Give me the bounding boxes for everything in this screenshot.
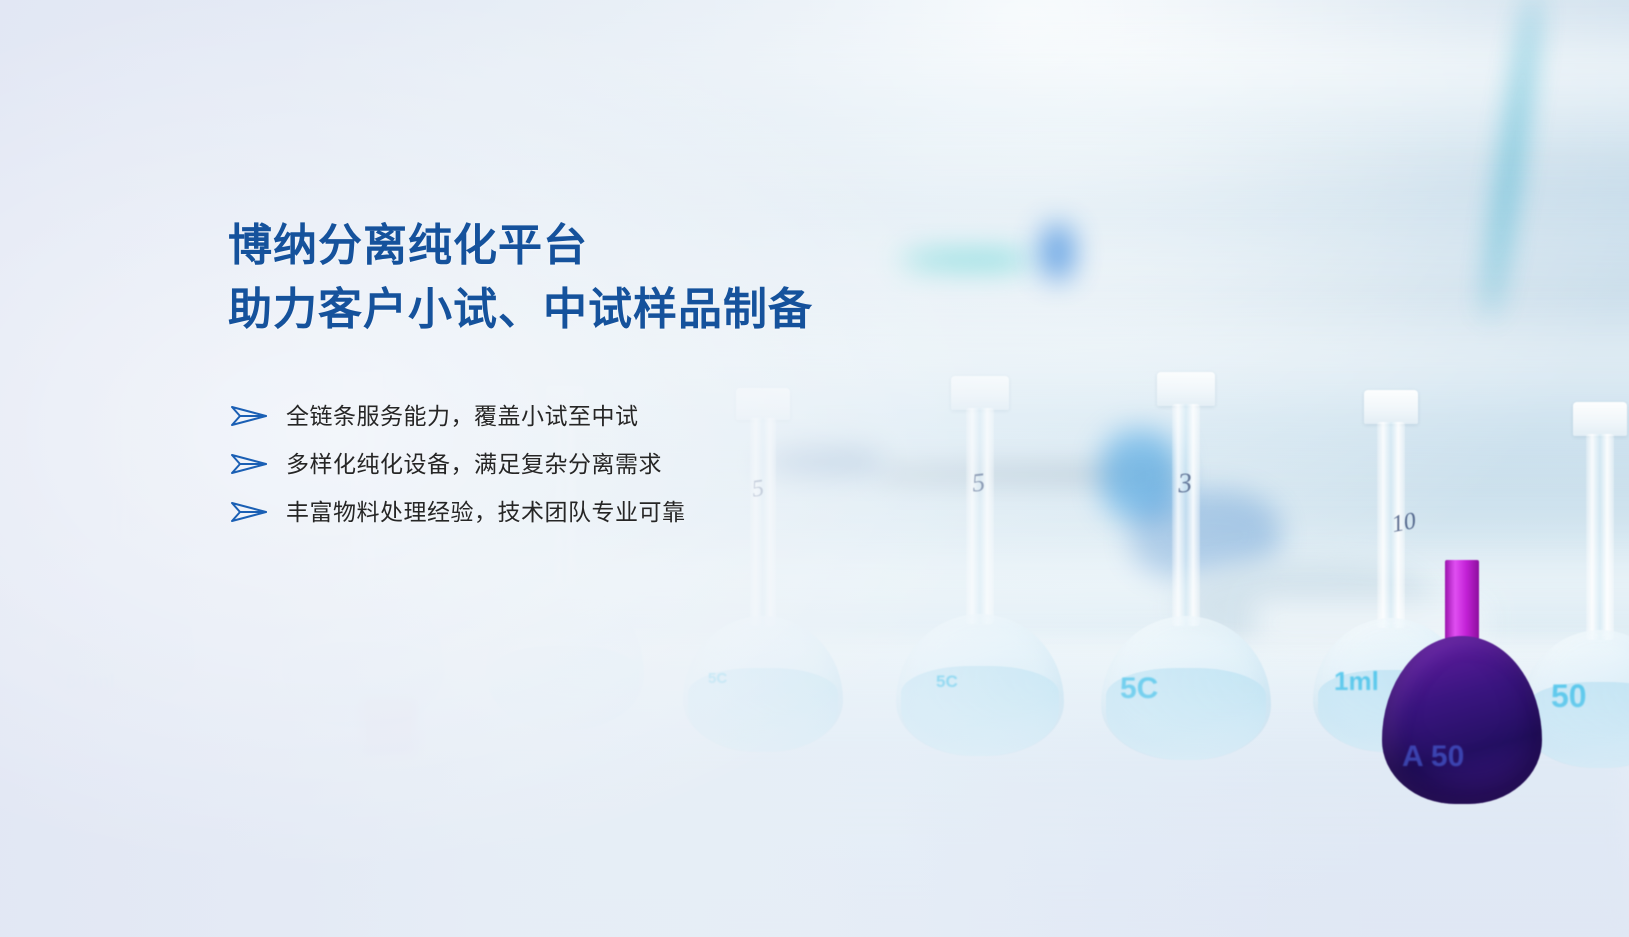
feature-label: 全链条服务能力，覆盖小试至中试 xyxy=(286,401,639,431)
feature-label: 丰富物料处理经验，技术团队专业可靠 xyxy=(286,497,686,527)
feature-item: 丰富物料处理经验，技术团队专业可靠 xyxy=(228,488,813,536)
feature-item: 全链条服务能力，覆盖小试至中试 xyxy=(228,392,813,440)
feature-item: 多样化纯化设备，满足复杂分离需求 xyxy=(228,440,813,488)
send-arrow-icon xyxy=(228,449,270,479)
feature-list: 全链条服务能力，覆盖小试至中试 多样化纯化设备，满足复杂分离需求 丰富物料处理经… xyxy=(228,392,813,536)
send-arrow-icon xyxy=(228,497,270,527)
headline-line-2: 助力客户小试、中试样品制备 xyxy=(228,278,813,342)
hero-banner: 50 ml 5 5C xyxy=(0,0,1629,937)
send-arrow-icon xyxy=(228,401,270,431)
feature-label: 多样化纯化设备，满足复杂分离需求 xyxy=(286,449,662,479)
headline-line-1: 博纳分离纯化平台 xyxy=(228,214,813,278)
banner-content: 博纳分离纯化平台 助力客户小试、中试样品制备 全链条服务能力，覆盖小试至中试 多… xyxy=(228,214,813,536)
flask-volume-mark: A 50 xyxy=(1402,740,1464,774)
flask-front-purple: A 50 xyxy=(1372,560,1552,800)
flask-bulb xyxy=(1382,636,1542,804)
flask-neck xyxy=(1445,560,1479,644)
